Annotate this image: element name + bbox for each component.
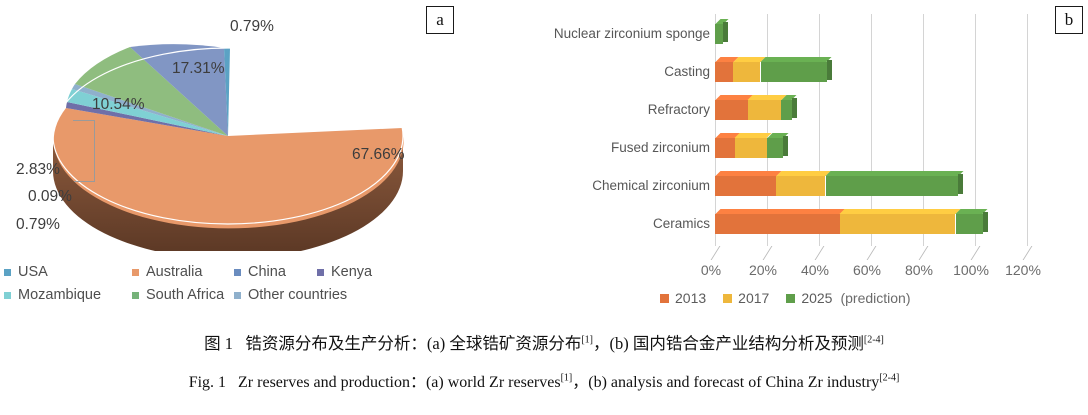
bar-segment-top-face	[715, 209, 845, 214]
x-tick-mark-100%	[971, 246, 981, 260]
legend-label-china: China	[248, 264, 286, 280]
x-tick-mark-40%	[815, 246, 825, 260]
caption-cn-text-1: 锆资源分布及生产分析：(a) 全球锆矿资源分布	[245, 334, 581, 353]
bar-segment-2017[interactable]	[748, 100, 782, 120]
bar-segment-2025[interactable]	[715, 24, 723, 44]
bar-category-label-refractory: Refractory	[648, 102, 710, 117]
legend-swatch-2017	[723, 294, 732, 303]
bar-end-cap	[783, 136, 788, 156]
x-tick-label-120%: 120%	[1005, 262, 1041, 278]
bar-segment-2025[interactable]	[956, 214, 983, 234]
caption-en-ref-2: [2-4]	[879, 373, 899, 384]
bars-plot-area	[715, 14, 1045, 246]
caption-chinese: 图 1 锆资源分布及生产分析：(a) 全球锆矿资源分布[1]，(b) 国内锆合金…	[0, 330, 1088, 354]
panel-b-bar-chart: b Nuclear zirconium sponge Casting Refra…	[480, 0, 1088, 325]
bar-end-cap	[827, 60, 832, 80]
bar-segment-2017[interactable]	[735, 138, 767, 158]
bar-segment-2025[interactable]	[767, 138, 783, 158]
pie-value-kenya: 0.09%	[28, 188, 72, 206]
legend-label-kenya: Kenya	[331, 264, 372, 280]
bar-segment-2013[interactable]	[715, 100, 748, 120]
legend-label-other-countries: Other countries	[248, 287, 347, 303]
caption-cn-ref-2: [2-4]	[864, 335, 884, 346]
bar-legend: 2013 2017 2025 (prediction)	[660, 290, 911, 306]
x-tick-mark-60%	[867, 246, 877, 260]
panel-a-pie-chart: a	[0, 0, 480, 325]
pie-legend-row-1: USA Australia China Kenya	[4, 264, 444, 280]
caption-en-prefix: Fig. 1	[189, 374, 226, 391]
pie-legend: USA Australia China Kenya Moza	[4, 264, 444, 310]
legend-note-prediction: (prediction)	[840, 290, 910, 306]
bar-category-label-fused-zirconium: Fused zirconium	[611, 140, 710, 155]
leader-line-1	[73, 120, 95, 121]
legend-swatch-2025	[786, 294, 795, 303]
x-tick-mark-0%	[711, 246, 721, 260]
x-tick-label-40%: 40%	[801, 262, 829, 278]
bar-segment-2025[interactable]	[761, 62, 827, 82]
pie-value-china: 17.31%	[172, 60, 225, 78]
panel-label-b: b	[1055, 6, 1083, 34]
legend-swatch-2013	[660, 294, 669, 303]
legend-item-2025[interactable]: 2025	[786, 290, 832, 306]
bar-segment-2017[interactable]	[776, 176, 825, 196]
bar-category-label-ceramics: Ceramics	[653, 216, 710, 231]
legend-label-south-africa: South Africa	[146, 287, 224, 303]
legend-item-usa[interactable]: USA	[4, 264, 132, 280]
gridline-120%	[1027, 14, 1028, 246]
pie-value-usa: 0.79%	[230, 18, 274, 36]
x-tick-mark-120%	[1023, 246, 1033, 260]
x-tick-label-80%: 80%	[905, 262, 933, 278]
x-tick-mark-20%	[763, 246, 773, 260]
bar-segment-top-face	[761, 57, 832, 62]
legend-item-mozambique[interactable]: Mozambique	[4, 287, 132, 303]
legend-swatch-australia	[132, 269, 139, 276]
legend-item-australia[interactable]: Australia	[132, 264, 234, 280]
bar-segment-2025[interactable]	[826, 176, 959, 196]
legend-item-2017[interactable]: 2017	[723, 290, 769, 306]
bar-segment-top-face	[826, 171, 964, 176]
x-tick-mark-80%	[919, 246, 929, 260]
bar-segment-top-face	[776, 171, 830, 176]
legend-swatch-south-africa	[132, 292, 139, 299]
figure-container: a	[0, 0, 1088, 325]
legend-label-2013: 2013	[675, 290, 706, 306]
caption-en-text-1: Zr reserves and production：(a) world Zr …	[238, 374, 561, 391]
panel-label-a: a	[426, 6, 454, 34]
bar-end-cap	[958, 174, 963, 194]
bar-segment-2017[interactable]	[733, 62, 760, 82]
legend-swatch-china	[234, 269, 241, 276]
legend-item-china[interactable]: China	[234, 264, 317, 280]
legend-swatch-usa	[4, 269, 11, 276]
caption-cn-prefix: 图 1	[204, 334, 233, 353]
bar-category-label-chemical-zirconium: Chemical zirconium	[592, 178, 710, 193]
legend-label-australia: Australia	[146, 264, 202, 280]
leader-line-3	[74, 181, 95, 182]
leader-line-2	[94, 120, 95, 182]
bar-end-cap	[792, 98, 797, 118]
caption-english: Fig. 1 Zr reserves and production：(a) wo…	[0, 368, 1088, 392]
bar-end-cap	[983, 212, 988, 232]
legend-item-kenya[interactable]: Kenya	[317, 264, 372, 280]
bar-segment-2013[interactable]	[715, 138, 735, 158]
legend-swatch-other-countries	[234, 292, 241, 299]
x-axis: 0%20%40%60%80%100%120%	[715, 246, 1055, 286]
caption-en-ref-1: [1]	[561, 373, 573, 384]
bar-segment-top-face	[840, 209, 961, 214]
pie-value-south-africa: 10.54%	[92, 96, 145, 114]
x-tick-label-20%: 20%	[749, 262, 777, 278]
gridline-0%	[715, 14, 716, 246]
legend-item-south-africa[interactable]: South Africa	[132, 287, 234, 303]
legend-label-2017: 2017	[738, 290, 769, 306]
caption-en-text-2: ，(b) analysis and forecast of China Zr i…	[572, 374, 879, 391]
pie-svg	[38, 16, 418, 251]
caption-cn-text-2: ，(b) 国内锆合金产业结构分析及预测	[593, 334, 864, 353]
legend-swatch-mozambique	[4, 292, 11, 299]
bar-segment-2013[interactable]	[715, 214, 840, 234]
x-tick-label-100%: 100%	[953, 262, 989, 278]
bar-segment-2013[interactable]	[715, 176, 776, 196]
legend-label-usa: USA	[18, 264, 48, 280]
legend-item-2013[interactable]: 2013	[660, 290, 706, 306]
x-tick-label-60%: 60%	[853, 262, 881, 278]
pie-value-other: 0.79%	[16, 216, 60, 234]
pie-chart-graphic	[38, 16, 418, 251]
bar-category-label-nuclear-zirconium-sponge: Nuclear zirconium sponge	[554, 26, 710, 41]
bar-segment-2025[interactable]	[781, 100, 791, 120]
bar-segment-2013[interactable]	[715, 62, 733, 82]
pie-value-mozambique: 2.83%	[16, 161, 60, 179]
caption-cn-ref-1: [1]	[581, 335, 593, 346]
pie-value-australia: 67.66%	[352, 146, 405, 164]
pie-legend-row-2: Mozambique South Africa Other countries	[4, 287, 444, 303]
bar-segment-2017[interactable]	[840, 214, 956, 234]
x-tick-label-0%: 0%	[701, 262, 721, 278]
legend-label-mozambique: Mozambique	[18, 287, 101, 303]
bar-end-cap	[723, 22, 728, 42]
legend-swatch-kenya	[317, 269, 324, 276]
bar-category-label-casting: Casting	[664, 64, 710, 79]
bar-segment-top-face	[715, 171, 781, 176]
legend-item-other-countries[interactable]: Other countries	[234, 287, 347, 303]
legend-label-2025: 2025	[801, 290, 832, 306]
